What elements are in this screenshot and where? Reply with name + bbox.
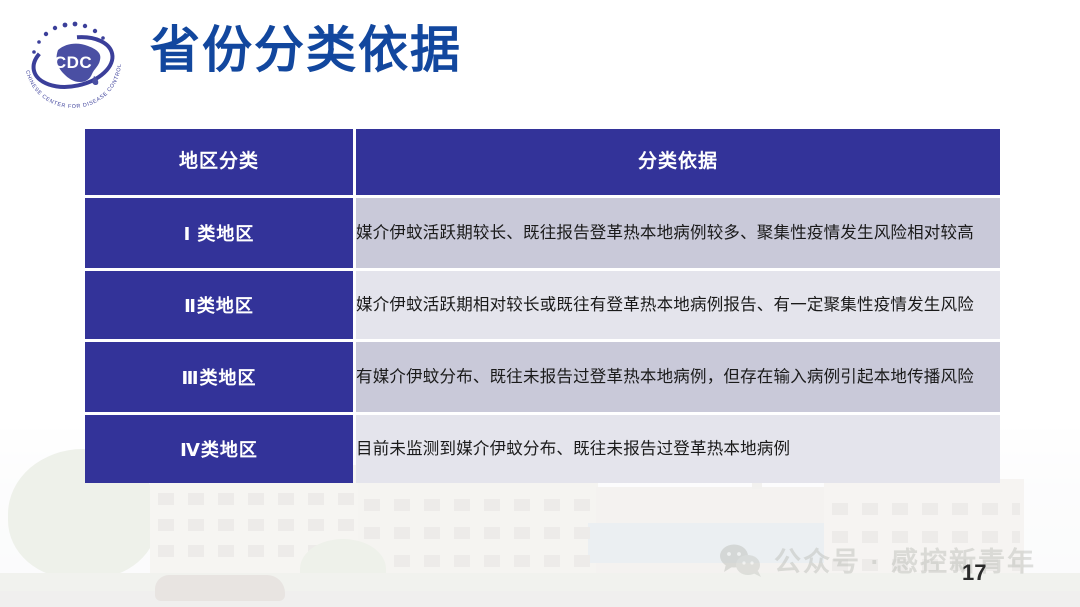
cell-criteria: 媒介伊蚊活跃期较长、既往报告登革热本地病例较多、聚集性疫情发生风险相对较高 (356, 198, 1000, 268)
cell-category: Ⅱ类地区 (85, 271, 353, 339)
slide-header: CDC CHINESE CENTER FOR DISEASE CONTROL A… (0, 0, 1080, 118)
cell-category: Ⅰ 类地区 (85, 198, 353, 268)
page-title: 省份分类依据 (150, 21, 462, 79)
cell-criteria: 有媒介伊蚊分布、既往未报告过登革热本地病例，但存在输入病例引起本地传播风险 (356, 342, 1000, 412)
footer-watermark-text: 公众号 · 感控新青年 (774, 540, 1036, 579)
table-row: Ⅰ 类地区 媒介伊蚊活跃期较长、既往报告登革热本地病例较多、聚集性疫情发生风险相… (85, 198, 1000, 268)
footer-watermark: 公众号 · 感控新青年 (718, 540, 1036, 579)
classification-table-container: 地区分类 分类依据 Ⅰ 类地区 媒介伊蚊活跃期较长、既往报告登革热本地病例较多、… (82, 126, 1000, 486)
table-row: Ⅲ类地区 有媒介伊蚊分布、既往未报告过登革热本地病例，但存在输入病例引起本地传播… (85, 342, 1000, 412)
cell-category: Ⅲ类地区 (85, 342, 353, 412)
column-header-criteria: 分类依据 (356, 129, 1000, 195)
wechat-icon (718, 542, 764, 578)
province-classification-table: 地区分类 分类依据 Ⅰ 类地区 媒介伊蚊活跃期较长、既往报告登革热本地病例较多、… (82, 126, 1003, 486)
cell-criteria: 目前未监测到媒介伊蚊分布、既往未报告过登革热本地病例 (356, 415, 1000, 483)
china-cdc-logo-icon: CDC CHINESE CENTER FOR DISEASE CONTROL A… (14, 8, 132, 112)
slide-canvas: CDC CHINESE CENTER FOR DISEASE CONTROL A… (0, 0, 1080, 607)
column-header-category: 地区分类 (85, 129, 353, 195)
svg-text:CDC: CDC (54, 53, 92, 72)
cell-category: Ⅳ类地区 (85, 415, 353, 483)
table-header-row: 地区分类 分类依据 (85, 129, 1000, 195)
cell-criteria: 媒介伊蚊活跃期相对较长或既往有登革热本地病例报告、有一定聚集性疫情发生风险 (356, 271, 1000, 339)
table-row: Ⅳ类地区 目前未监测到媒介伊蚊分布、既往未报告过登革热本地病例 (85, 415, 1000, 483)
table-row: Ⅱ类地区 媒介伊蚊活跃期相对较长或既往有登革热本地病例报告、有一定聚集性疫情发生… (85, 271, 1000, 339)
page-number: 17 (962, 560, 986, 586)
